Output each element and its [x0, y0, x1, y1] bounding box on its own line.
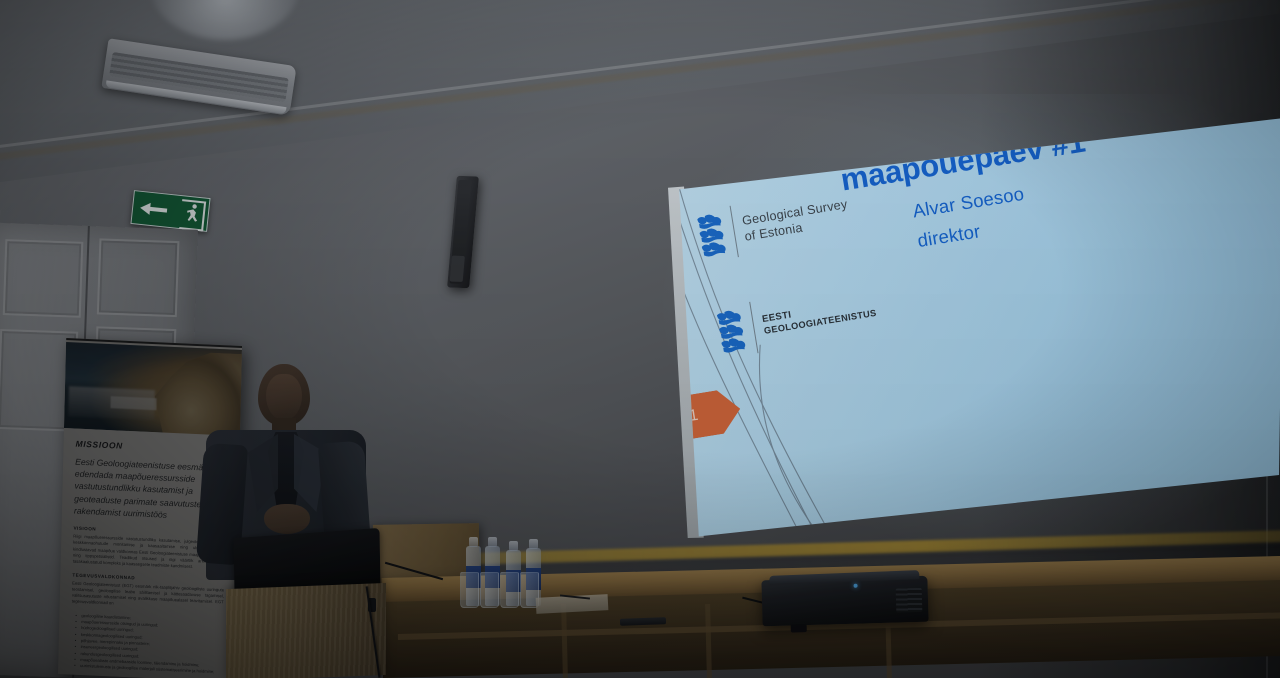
- logo-2-text: Eesti Geoloogiateenistus: [761, 296, 877, 338]
- projector: [761, 576, 928, 627]
- banner-photo-watermark: [110, 396, 156, 410]
- door-panel: [3, 239, 84, 318]
- presenter-hands: [264, 504, 310, 534]
- speaker-lower-panel: [450, 256, 465, 282]
- logo-divider: [749, 302, 758, 353]
- screenshot-scene: MISSIOON Eesti Geoloogiateenistuse eesmä…: [0, 0, 1280, 678]
- projection-screen: Geological Survey of Estonia: [668, 118, 1280, 538]
- presenter-head: [258, 364, 310, 426]
- projector-foot: [791, 624, 807, 632]
- drinking-glass: [480, 572, 499, 608]
- screen-surface: Geological Survey of Estonia: [668, 118, 1280, 538]
- estonian-three-lions-coat-of-arms-icon: [714, 307, 748, 355]
- running-man-icon: [186, 203, 201, 224]
- exit-arrow-left-icon: [136, 198, 172, 221]
- drinking-glass: [500, 572, 519, 608]
- lectern: [226, 583, 386, 678]
- slide-speaker-role: direktor: [916, 220, 982, 252]
- logo-1-text: Geological Survey of Estonia: [741, 197, 851, 245]
- presenter-face: [266, 374, 302, 420]
- lectern-wood-grain: [226, 583, 386, 678]
- drinking-glasses: [460, 566, 542, 608]
- projector-vent: [896, 588, 923, 613]
- slide-speaker-name: Alvar Soesoo: [911, 183, 1026, 223]
- logo-divider: [730, 206, 739, 257]
- estonian-three-lions-coat-of-arms-icon: [695, 211, 729, 259]
- drinking-glass: [460, 572, 479, 608]
- door-panel: [97, 238, 180, 317]
- projector-power-led: [854, 584, 858, 588]
